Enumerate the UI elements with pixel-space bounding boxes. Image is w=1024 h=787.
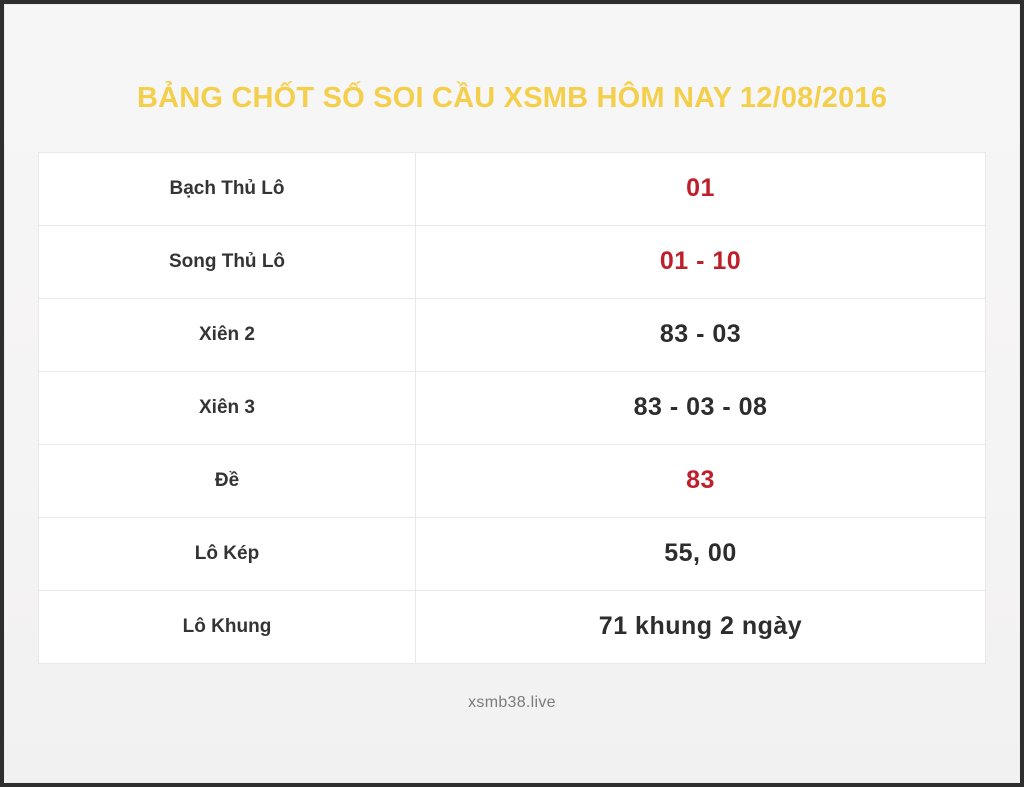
page-frame: BẢNG CHỐT SỐ SOI CẦU XSMB HÔM NAY 12/08/… xyxy=(4,4,1020,783)
row-value: 83 xyxy=(416,444,986,517)
row-value: 71 khung 2 ngày xyxy=(416,590,986,663)
row-value: 01 - 10 xyxy=(416,225,986,298)
row-label: Bạch Thủ Lô xyxy=(39,152,416,225)
table-row: Xiên 283 - 03 xyxy=(39,298,986,371)
soi-cau-table-wrapper: Bạch Thủ Lô01Song Thủ Lô01 - 10Xiên 283 … xyxy=(38,152,986,664)
page-title: BẢNG CHỐT SỐ SOI CẦU XSMB HÔM NAY 12/08/… xyxy=(137,83,887,115)
row-label: Lô Kép xyxy=(39,517,416,590)
row-value: 01 xyxy=(416,152,986,225)
table-row: Xiên 383 - 03 - 08 xyxy=(39,371,986,444)
table-row: Lô Khung71 khung 2 ngày xyxy=(39,590,986,663)
table-row: Bạch Thủ Lô01 xyxy=(39,152,986,225)
row-value: 83 - 03 - 08 xyxy=(416,371,986,444)
soi-cau-table-body: Bạch Thủ Lô01Song Thủ Lô01 - 10Xiên 283 … xyxy=(39,152,986,663)
row-label: Đề xyxy=(39,444,416,517)
row-label: Song Thủ Lô xyxy=(39,225,416,298)
row-value: 83 - 03 xyxy=(416,298,986,371)
row-label: Xiên 2 xyxy=(39,298,416,371)
row-value: 55, 00 xyxy=(416,517,986,590)
row-label: Xiên 3 xyxy=(39,371,416,444)
soi-cau-table: Bạch Thủ Lô01Song Thủ Lô01 - 10Xiên 283 … xyxy=(38,152,986,664)
table-row: Lô Kép55, 00 xyxy=(39,517,986,590)
row-label: Lô Khung xyxy=(39,590,416,663)
table-row: Song Thủ Lô01 - 10 xyxy=(39,225,986,298)
table-row: Đề83 xyxy=(39,444,986,517)
site-watermark: xsmb38.live xyxy=(468,694,556,712)
